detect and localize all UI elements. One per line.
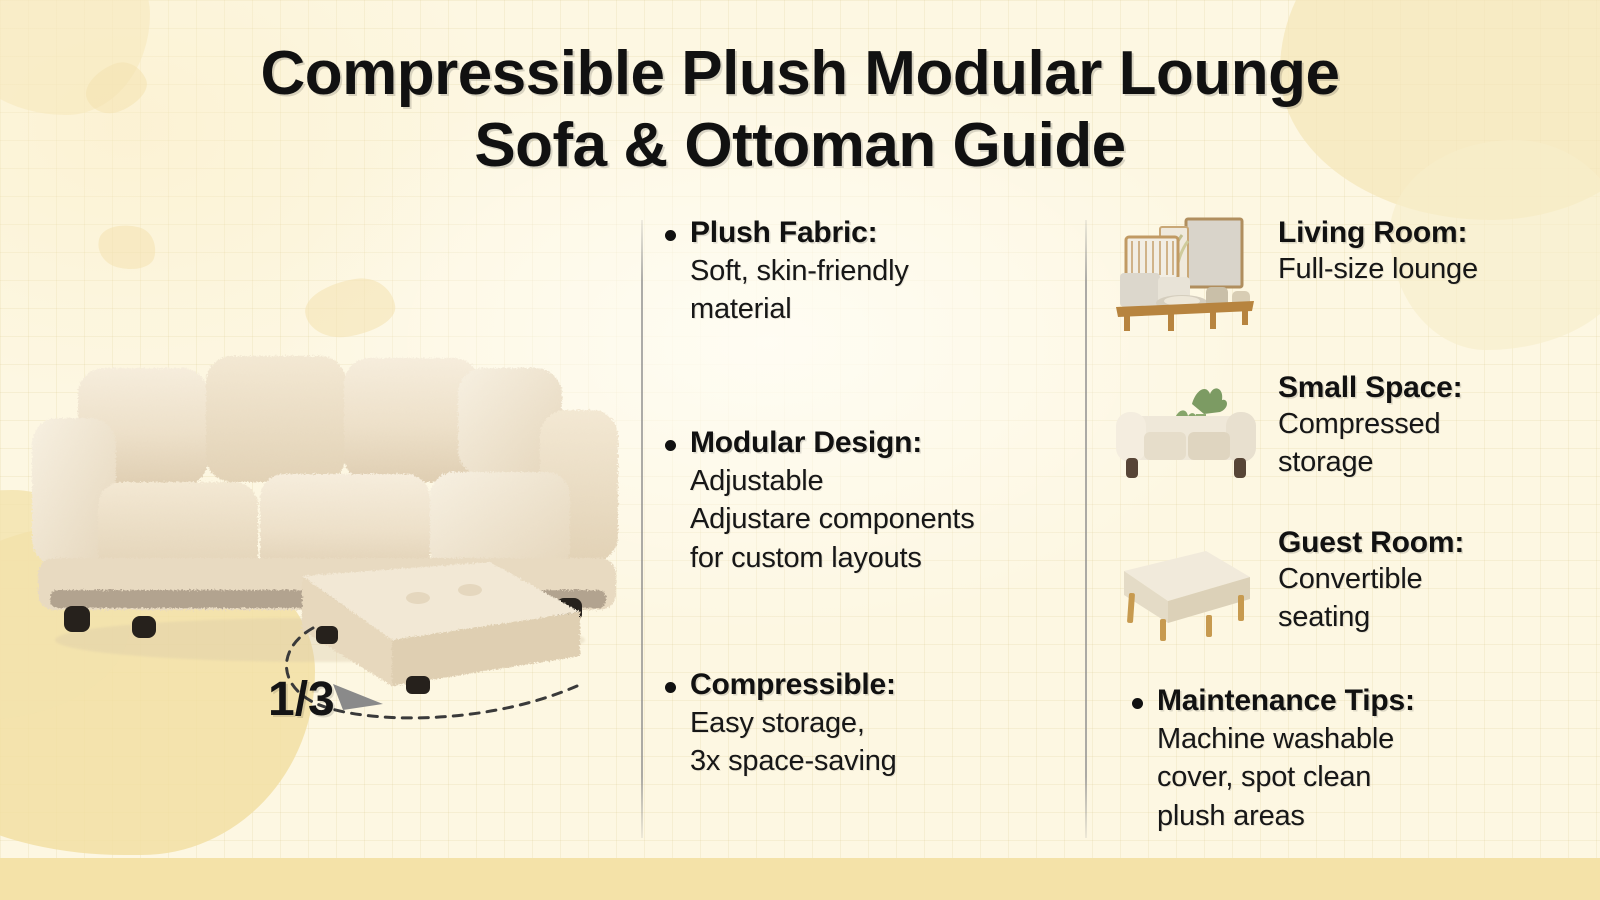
feature-body-line: Soft, skin-friendly xyxy=(690,252,909,291)
page-title: Compressible Plush Modular Lounge Sofa &… xyxy=(0,38,1600,182)
use-case-body-line: Machine washable xyxy=(1157,720,1415,759)
use-case-body-line: Convertible xyxy=(1278,561,1464,599)
use-case-body-line: cover, spot clean xyxy=(1157,758,1415,797)
bullet-dot-icon xyxy=(665,440,676,451)
compression-ratio-label: 1/3 xyxy=(268,672,335,727)
use-case-body: Machine washable cover, spot clean plush… xyxy=(1157,720,1415,836)
use-case-body-line: Full-size lounge xyxy=(1278,251,1478,289)
column-divider-right xyxy=(1085,220,1087,838)
use-case-heading: Living Room: xyxy=(1278,215,1478,251)
infographic-poster: Compressible Plush Modular Lounge Sofa &… xyxy=(0,0,1600,900)
feature-item-plush-fabric: Plush Fabric: Soft, skin-friendly materi… xyxy=(665,215,909,329)
use-case-body: Full-size lounge xyxy=(1278,251,1478,289)
feature-body-line: Easy storage, xyxy=(690,704,897,743)
living-room-scene-thumbnail xyxy=(1110,215,1260,335)
feature-item-compressible: Compressible: Easy storage, 3x space-sav… xyxy=(665,667,897,781)
use-case-heading: Maintenance Tips: xyxy=(1157,683,1415,720)
use-case-maintenance-tips: Maintenance Tips: Machine washable cover… xyxy=(1132,683,1415,835)
feature-body: Easy storage, 3x space-saving xyxy=(690,704,897,781)
use-case-guest-room: Guest Room: Convertible seating xyxy=(1110,525,1464,645)
use-case-text: Small Space: Compressed storage xyxy=(1278,370,1462,481)
use-case-body-line: seating xyxy=(1278,599,1464,637)
bullet-dot-icon xyxy=(665,230,676,241)
bullet-dot-icon xyxy=(665,682,676,693)
use-case-heading: Small Space: xyxy=(1278,370,1462,406)
use-case-small-space: Small Space: Compressed storage xyxy=(1110,370,1462,490)
use-case-heading: Guest Room: xyxy=(1278,525,1464,561)
feature-heading: Compressible: xyxy=(690,667,896,704)
page-title-line-2: Sofa & Ottoman Guide xyxy=(0,110,1600,182)
feature-heading: Modular Design: xyxy=(690,425,922,462)
column-divider-left xyxy=(641,220,643,838)
use-case-text: Living Room: Full-size lounge xyxy=(1278,215,1478,289)
use-case-body-line: Compressed xyxy=(1278,406,1462,444)
bottom-accent-band xyxy=(0,858,1600,900)
feature-body-line: for custom layouts xyxy=(690,539,975,578)
feature-item-modular-design: Modular Design: Adjustable Adjustare com… xyxy=(665,425,975,577)
use-case-body-line: plush areas xyxy=(1157,797,1415,836)
page-title-line-1: Compressible Plush Modular Lounge xyxy=(0,38,1600,110)
use-case-living-room: Living Room: Full-size lounge xyxy=(1110,215,1478,335)
feature-heading: Plush Fabric: xyxy=(690,215,877,252)
use-case-body-line: storage xyxy=(1278,444,1462,482)
feature-body-line: Adjustable xyxy=(690,462,975,501)
compact-loveseat-thumbnail xyxy=(1110,370,1260,490)
feature-body: Adjustable Adjustare components for cust… xyxy=(690,462,975,578)
use-case-text: Guest Room: Convertible seating xyxy=(1278,525,1464,636)
feature-body-line: material xyxy=(690,290,909,329)
ottoman-bench-thumbnail xyxy=(1110,525,1260,645)
feature-body: Soft, skin-friendly material xyxy=(690,252,909,329)
feature-body-line: 3x space-saving xyxy=(690,742,897,781)
bullet-dot-icon xyxy=(1132,698,1143,709)
feature-body-line: Adjustare components xyxy=(690,500,975,539)
use-case-body: Convertible seating xyxy=(1278,561,1464,636)
use-case-body: Compressed storage xyxy=(1278,406,1462,481)
